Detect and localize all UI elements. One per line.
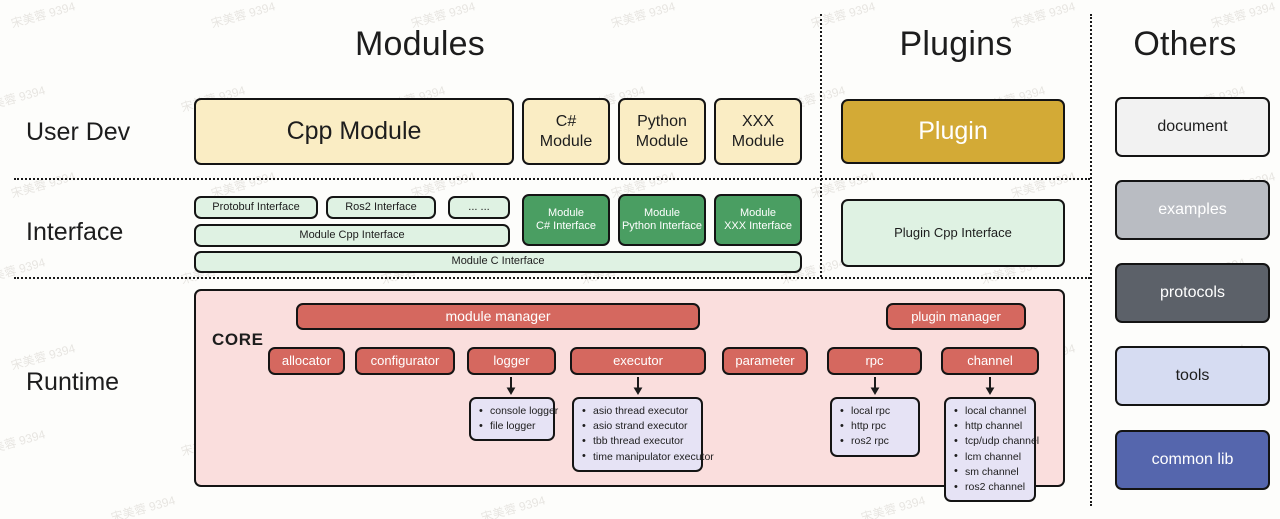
box-cpp-module-label: Cpp Module	[287, 116, 422, 147]
sublist-item: console logger	[479, 404, 547, 419]
box-python-module-label-line2: Module	[636, 132, 688, 152]
sublist-item: ros2 rpc	[840, 434, 912, 449]
box-module-manager[interactable]: module manager	[296, 303, 700, 330]
divider-interface-runtime	[14, 277, 1090, 279]
box-others-common-lib-label: common lib	[1152, 450, 1234, 470]
box-xxx-module-label-line2: Module	[732, 132, 784, 152]
box-plugin-cpp-interface[interactable]: Plugin Cpp Interface	[841, 199, 1065, 267]
watermark: 宋美蓉 9394	[479, 491, 547, 519]
box-others-tools-label: tools	[1176, 366, 1210, 386]
box-module-csharp-interface-line2: C# Interface	[536, 220, 596, 233]
box-plugin-label: Plugin	[918, 116, 988, 147]
arrow-down-executor-icon	[631, 377, 645, 397]
box-module-xxx-interface[interactable]: Module XXX Interface	[714, 194, 802, 246]
sublist-channel[interactable]: local channel http channel tcp/udp chann…	[944, 397, 1036, 502]
box-module-python-interface[interactable]: Module Python Interface	[618, 194, 706, 246]
box-others-protocols-label: protocols	[1160, 283, 1225, 303]
box-module-csharp-interface-line1: Module	[548, 207, 584, 220]
row-label-runtime: Runtime	[26, 368, 119, 397]
box-plugin-cpp-interface-label: Plugin Cpp Interface	[894, 225, 1012, 241]
sublist-item: lcm channel	[954, 450, 1028, 465]
watermark: 宋美蓉 9394	[1009, 167, 1077, 202]
box-module-xxx-interface-line1: Module	[740, 207, 776, 220]
architecture-diagram: 宋美蓉 9394 宋美蓉 9394 宋美蓉 9394 宋美蓉 9394 宋美蓉 …	[0, 0, 1280, 519]
box-logger-label: logger	[493, 353, 529, 369]
sublist-item: tcp/udp channel	[954, 434, 1028, 449]
divider-userdev-interface	[14, 178, 1090, 180]
box-others-tools[interactable]: tools	[1115, 346, 1270, 406]
column-heading-others: Others	[1092, 25, 1278, 64]
box-csharp-module-label-line2: Module	[540, 132, 592, 152]
sublist-item: asio thread executor	[582, 404, 695, 419]
box-others-examples-label: examples	[1158, 200, 1226, 220]
sublist-item: local channel	[954, 404, 1028, 419]
sublist-item: asio strand executor	[582, 419, 695, 434]
arrow-down-rpc-icon	[868, 377, 882, 397]
box-logger[interactable]: logger	[467, 347, 556, 375]
watermark: 宋美蓉 9394	[0, 253, 47, 288]
sublist-rpc[interactable]: local rpc http rpc ros2 rpc	[830, 397, 920, 457]
sublist-executor[interactable]: asio thread executor asio strand executo…	[572, 397, 703, 472]
box-module-cpp-interface-label: Module Cpp Interface	[299, 229, 404, 242]
box-plugin-manager[interactable]: plugin manager	[886, 303, 1026, 330]
sublist-logger[interactable]: console logger file logger	[469, 397, 555, 441]
box-allocator-label: allocator	[282, 353, 331, 369]
box-xxx-module[interactable]: XXX Module	[714, 98, 802, 165]
divider-modules-plugins	[820, 14, 822, 277]
box-module-csharp-interface[interactable]: Module C# Interface	[522, 194, 610, 246]
box-channel[interactable]: channel	[941, 347, 1039, 375]
box-rpc-label: rpc	[865, 353, 883, 369]
box-others-examples[interactable]: examples	[1115, 180, 1270, 240]
watermark: 宋美蓉 9394	[109, 491, 177, 519]
box-channel-label: channel	[967, 353, 1013, 369]
box-others-document-label: document	[1157, 117, 1227, 137]
box-parameter-label: parameter	[735, 353, 794, 369]
box-configurator[interactable]: configurator	[355, 347, 455, 375]
row-label-user-dev: User Dev	[26, 118, 130, 147]
box-ros2-interface-label: Ros2 Interface	[345, 201, 417, 214]
sublist-item: time manipulator executor	[582, 450, 695, 465]
box-python-module-label-line1: Python	[637, 112, 687, 132]
sublist-item: local rpc	[840, 404, 912, 419]
watermark: 宋美蓉 9394	[859, 491, 927, 519]
box-python-module[interactable]: Python Module	[618, 98, 706, 165]
box-executor[interactable]: executor	[570, 347, 706, 375]
sublist-item: sm channel	[954, 465, 1028, 480]
box-csharp-module[interactable]: C# Module	[522, 98, 610, 165]
box-executor-label: executor	[613, 353, 663, 369]
watermark: 宋美蓉 9394	[0, 425, 47, 460]
divider-plugins-others	[1090, 14, 1092, 506]
sublist-item: tbb thread executor	[582, 434, 695, 449]
box-more-interfaces-label: ... ...	[468, 201, 489, 214]
box-module-python-interface-line1: Module	[644, 207, 680, 220]
column-heading-modules: Modules	[20, 25, 820, 64]
sublist-item: http rpc	[840, 419, 912, 434]
core-label: CORE	[212, 330, 264, 350]
box-module-python-interface-line2: Python Interface	[622, 220, 702, 233]
box-ros2-interface[interactable]: Ros2 Interface	[326, 196, 436, 219]
box-protobuf-interface[interactable]: Protobuf Interface	[194, 196, 318, 219]
box-rpc[interactable]: rpc	[827, 347, 922, 375]
sublist-item: ros2 channel	[954, 480, 1028, 495]
box-allocator[interactable]: allocator	[268, 347, 345, 375]
box-more-interfaces[interactable]: ... ...	[448, 196, 510, 219]
box-others-common-lib[interactable]: common lib	[1115, 430, 1270, 490]
box-csharp-module-label-line1: C#	[556, 112, 576, 132]
box-protobuf-interface-label: Protobuf Interface	[212, 201, 299, 214]
box-module-cpp-interface[interactable]: Module Cpp Interface	[194, 224, 510, 247]
box-module-xxx-interface-line2: XXX Interface	[724, 220, 792, 233]
box-module-manager-label: module manager	[445, 308, 550, 325]
box-others-document[interactable]: document	[1115, 97, 1270, 157]
row-label-interface: Interface	[26, 218, 123, 247]
box-module-c-interface[interactable]: Module C Interface	[194, 251, 802, 273]
box-plugin-manager-label: plugin manager	[911, 309, 1001, 325]
watermark: 宋美蓉 9394	[0, 81, 47, 116]
box-parameter[interactable]: parameter	[722, 347, 808, 375]
sublist-item: file logger	[479, 419, 547, 434]
box-module-c-interface-label: Module C Interface	[452, 255, 545, 268]
box-plugin[interactable]: Plugin	[841, 99, 1065, 164]
box-configurator-label: configurator	[371, 353, 440, 369]
box-cpp-module[interactable]: Cpp Module	[194, 98, 514, 165]
arrow-down-logger-icon	[504, 377, 518, 397]
column-heading-plugins: Plugins	[822, 25, 1090, 64]
box-others-protocols[interactable]: protocols	[1115, 263, 1270, 323]
arrow-down-channel-icon	[983, 377, 997, 397]
watermark: 宋美蓉 9394	[9, 167, 77, 202]
sublist-item: http channel	[954, 419, 1028, 434]
box-xxx-module-label-line1: XXX	[742, 112, 774, 132]
